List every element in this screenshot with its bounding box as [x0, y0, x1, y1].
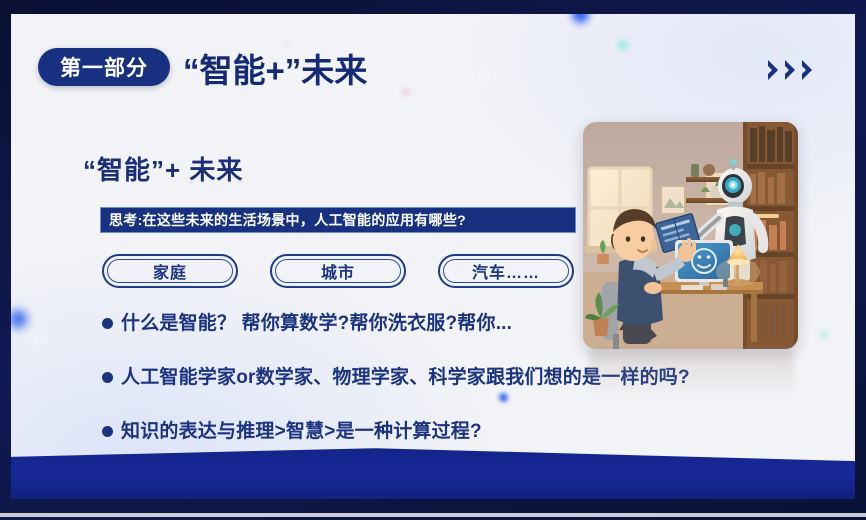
slide-canvas: 第一部分 “智能+”未来 “智能”+ 未来 思考:在这些未来的生活场景中，人工智… — [11, 14, 855, 499]
section-badge: 第一部分 — [38, 48, 170, 86]
scenario-pill-3[interactable]: 汽车…… — [438, 254, 574, 288]
question-bullet: 知识的表达与推理>智慧>是一种计算过程? — [102, 418, 802, 446]
bullet-dot-icon — [102, 372, 113, 383]
chevron-right-icon — [783, 58, 798, 82]
decor-dot — [11, 310, 27, 328]
bottom-rule — [0, 513, 866, 517]
decor-dot — [30, 330, 48, 348]
slide-header: 第一部分 “智能+”未来 — [11, 48, 855, 100]
chevron-right-icon — [800, 58, 815, 82]
think-prompt-bar: 思考:在这些未来的生活场景中，人工智能的应用有哪些? — [100, 207, 576, 233]
triple-chevron-right-icon — [766, 58, 815, 82]
chevron-right-icon — [766, 58, 781, 82]
question-bullet: 人工智能学家or数学家、物理学家、科学家跟我们想的是一样的吗? — [102, 364, 802, 392]
scenario-pill-label: 家庭 — [153, 259, 187, 283]
bullet-dot-icon — [102, 426, 113, 437]
bullet-dot-icon — [102, 318, 113, 329]
boy-at-desk-with-robot-illustration — [583, 122, 798, 349]
scenario-pill-label: 城市 — [321, 259, 355, 283]
scenario-pill-label: 汽车…… — [472, 259, 540, 283]
question-bullet-text: 人工智能学家or数学家、物理学家、科学家跟我们想的是一样的吗? — [121, 364, 690, 391]
question-bullet-text: 知识的表达与推理>智慧>是一种计算过程? — [121, 418, 482, 445]
scenario-pill-2[interactable]: 城市 — [270, 254, 406, 288]
scenario-pill-row: 家庭城市汽车…… — [102, 254, 582, 288]
slide: 第一部分 “智能+”未来 “智能”+ 未来 思考:在这些未来的生活场景中，人工智… — [0, 0, 866, 520]
scenario-pill-1[interactable]: 家庭 — [102, 254, 238, 288]
section-subtitle: “智能”+ 未来 — [83, 150, 243, 187]
think-prompt-text: 思考:在这些未来的生活场景中，人工智能的应用有哪些? — [109, 210, 466, 230]
decor-dot — [572, 14, 589, 23]
page-title: “智能+”未来 — [183, 44, 367, 92]
decor-dot — [820, 330, 828, 338]
question-bullet-text: 什么是智能？ 帮你算数学?帮你洗衣服?帮你... — [121, 310, 512, 337]
